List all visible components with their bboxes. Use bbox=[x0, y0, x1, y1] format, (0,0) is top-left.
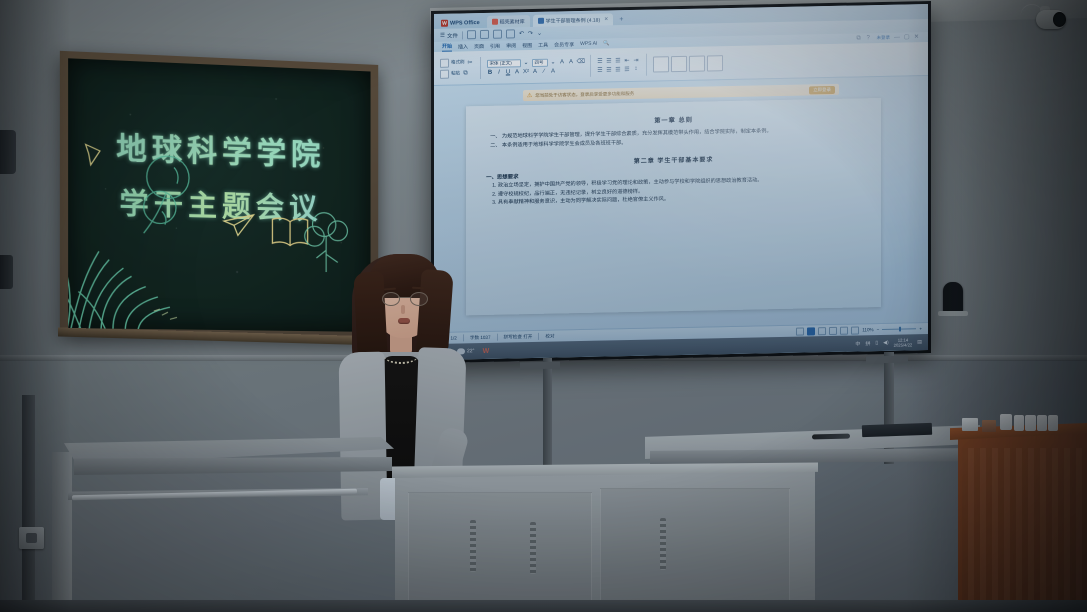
screen-support-leg-left bbox=[543, 358, 552, 468]
multilevel-list-icon[interactable]: ☰ bbox=[615, 57, 622, 64]
find-replace-icon[interactable] bbox=[707, 55, 723, 71]
tab-page[interactable]: 页面 bbox=[474, 42, 484, 49]
font-color-icon[interactable]: A bbox=[550, 68, 557, 74]
volume-icon[interactable]: ◀) bbox=[883, 340, 889, 346]
search-icon[interactable]: 🔍 bbox=[603, 40, 609, 46]
print-icon[interactable] bbox=[493, 30, 502, 39]
cut-icon[interactable]: ✂ bbox=[467, 59, 474, 66]
account-login-label[interactable]: 未登录 bbox=[877, 35, 891, 41]
focus-view-icon[interactable] bbox=[840, 326, 848, 334]
ribbon-divider-3 bbox=[646, 53, 647, 75]
align-right-icon[interactable]: ☰ bbox=[615, 66, 622, 73]
chalk-paper-plane-drawing bbox=[222, 211, 256, 238]
help-icon[interactable]: ? bbox=[867, 35, 873, 41]
font-group: 宋体 (正文) ⌄ 四号 ⌄ A A ⌫ B I U A bbox=[487, 57, 584, 75]
projection-screen-surface[interactable]: W WPS Office 稻壳素材库 学生干部管理条例 (4.18) ✕ + bbox=[434, 4, 928, 360]
tab-close-icon[interactable]: ✕ bbox=[604, 16, 608, 22]
cabinet-vent-right bbox=[660, 518, 666, 570]
mouth bbox=[398, 318, 410, 324]
left-shadow-overlay bbox=[0, 0, 70, 612]
file-menu-label: 文件 bbox=[447, 31, 458, 39]
cloud-sync-icon[interactable] bbox=[506, 29, 515, 38]
print-preview-icon[interactable] bbox=[480, 30, 489, 39]
glasses-lens-right bbox=[410, 292, 428, 306]
tab-reference[interactable]: 引用 bbox=[490, 42, 500, 49]
cabinet-vent-left bbox=[470, 520, 476, 572]
increase-indent-icon[interactable]: ⇥ bbox=[633, 56, 640, 63]
chevron-down-icon[interactable]: ⌄ bbox=[523, 59, 530, 66]
justify-icon[interactable]: ☰ bbox=[624, 66, 631, 73]
format-painter-label: 格式刷 bbox=[451, 59, 465, 65]
toolbar-divider bbox=[462, 31, 463, 39]
grow-font-icon[interactable]: A bbox=[559, 59, 566, 65]
word-count-label: 字数 1037 bbox=[470, 334, 491, 340]
word-doc-icon bbox=[538, 18, 544, 24]
network-icon[interactable]: ▯ bbox=[875, 340, 878, 346]
reading-view-icon[interactable] bbox=[829, 326, 837, 334]
paste-icon[interactable] bbox=[440, 69, 449, 78]
styles-group bbox=[653, 55, 723, 72]
wps-taskbar-icon[interactable]: W bbox=[483, 347, 490, 354]
bullet-list-icon[interactable]: ☰ bbox=[597, 57, 604, 64]
glasses-lens-left bbox=[382, 292, 400, 306]
fullscreen-icon[interactable] bbox=[851, 326, 859, 334]
font-size-select[interactable]: 四号 bbox=[532, 58, 548, 66]
spellcheck-label[interactable]: 拼写检查 打开 bbox=[504, 333, 533, 340]
blackboard-surface: 地球科学学院 学干主题会议 bbox=[68, 58, 370, 332]
necklace bbox=[384, 348, 418, 364]
tab-dock-material[interactable]: 稻壳素材库 bbox=[487, 15, 530, 28]
cabinet-door-right[interactable] bbox=[600, 488, 790, 608]
style-normal-icon[interactable] bbox=[653, 56, 669, 72]
wps-office-window: W WPS Office 稻壳素材库 学生干部管理条例 (4.18) ✕ + bbox=[434, 4, 928, 360]
minimize-icon[interactable]: — bbox=[894, 35, 900, 41]
file-menu-button[interactable]: ☰ 文件 bbox=[440, 31, 458, 39]
login-now-button[interactable]: 立即登录 bbox=[809, 85, 835, 94]
line-spacing-icon[interactable]: ↕ bbox=[633, 66, 640, 72]
weather-temperature: 22° bbox=[467, 348, 475, 354]
tab-view[interactable]: 视图 bbox=[522, 41, 532, 48]
status-divider-3 bbox=[538, 333, 539, 340]
glasses-bridge bbox=[398, 297, 410, 298]
status-divider-2 bbox=[497, 334, 498, 341]
chalk-paper-plane-small-drawing bbox=[83, 142, 106, 167]
decrease-indent-icon[interactable]: ⇤ bbox=[624, 57, 631, 64]
strikethrough-icon[interactable]: A bbox=[514, 69, 521, 75]
italic-button[interactable]: I bbox=[496, 69, 503, 75]
tab-insert[interactable]: 插入 bbox=[458, 43, 468, 50]
wps-app-name: WPS Office bbox=[450, 20, 480, 27]
undo-icon[interactable]: ↶ bbox=[519, 30, 524, 37]
tab-tools[interactable]: 工具 bbox=[538, 41, 548, 48]
blackboard: 地球科学学院 学干主题会议 bbox=[60, 51, 378, 340]
nose bbox=[401, 305, 405, 314]
proofread-label[interactable]: 校对 bbox=[545, 333, 554, 339]
align-left-icon[interactable]: ☰ bbox=[597, 66, 604, 73]
paragraph-group: ☰ ☰ ☰ ⇤ ⇥ ☰ ☰ ☰ ☰ ↕ bbox=[597, 56, 640, 73]
glasses-icon bbox=[382, 292, 428, 304]
font-family-select[interactable]: 宋体 (正文) bbox=[487, 59, 521, 68]
screen-mount-bar-left bbox=[520, 362, 560, 370]
tab-review[interactable]: 审阅 bbox=[506, 42, 516, 49]
style-heading2-icon[interactable] bbox=[689, 55, 705, 71]
classroom-scene: 地球科学学院 学干主题会议 bbox=[0, 0, 1087, 612]
bold-button[interactable]: B bbox=[487, 69, 494, 75]
web-view-icon[interactable] bbox=[796, 327, 804, 335]
wps-logo-icon: W bbox=[441, 20, 448, 27]
hamburger-icon: ☰ bbox=[440, 32, 445, 38]
align-center-icon[interactable]: ☰ bbox=[606, 66, 613, 73]
clear-format-icon[interactable]: ⌫ bbox=[577, 58, 584, 65]
pen-on-desk[interactable] bbox=[812, 434, 850, 440]
projection-screen: W WPS Office 稻壳素材库 学生干部管理条例 (4.18) ✕ + bbox=[431, 1, 931, 363]
right-shadow-overlay bbox=[907, 0, 1087, 612]
tab-home[interactable]: 开始 bbox=[442, 42, 452, 51]
page-view-icon[interactable] bbox=[807, 327, 815, 335]
cabinet-door-left[interactable] bbox=[408, 492, 592, 610]
copy-icon[interactable]: ⧉ bbox=[462, 70, 469, 77]
superscript-icon[interactable]: X² bbox=[523, 69, 530, 75]
underline-button[interactable]: U bbox=[505, 69, 512, 75]
redo-icon[interactable]: ↷ bbox=[528, 30, 533, 37]
style-heading1-icon[interactable] bbox=[671, 55, 687, 71]
outline-view-icon[interactable] bbox=[818, 327, 826, 335]
text-effects-icon[interactable]: A bbox=[532, 68, 539, 74]
tab-member[interactable]: 会员专享 bbox=[554, 41, 574, 48]
ime-mode-icon[interactable]: 中 bbox=[855, 340, 860, 347]
tab-wps-ai[interactable]: WPS AI bbox=[580, 41, 597, 47]
zoom-out-button[interactable]: − bbox=[877, 327, 880, 332]
zoom-level-label: 110% bbox=[862, 327, 873, 332]
chevron-down-icon[interactable]: ⌄ bbox=[537, 30, 542, 37]
new-tab-button[interactable]: + bbox=[616, 16, 626, 25]
ribbon-divider-1 bbox=[480, 57, 481, 79]
highlight-icon[interactable]: ⁄ bbox=[541, 68, 548, 74]
zoom-slider-handle[interactable] bbox=[899, 327, 901, 332]
format-painter-icon[interactable] bbox=[440, 58, 449, 67]
dock-material-icon bbox=[492, 19, 498, 25]
notice-text: 您当前处于访客状态，登录后享受更多功能和服务 bbox=[535, 90, 634, 98]
screen-mount-bar-right bbox=[866, 356, 908, 364]
share-icon[interactable]: ⧉ bbox=[857, 35, 863, 41]
ribbon-divider-2 bbox=[590, 54, 591, 76]
document-area[interactable]: ⚠ 您当前处于访客状态，登录后享受更多功能和服务 立即登录 第一章 总则 一、 … bbox=[434, 76, 928, 332]
numbered-list-icon[interactable]: ☰ bbox=[606, 57, 613, 64]
chevron-down-icon[interactable]: ⌄ bbox=[550, 58, 557, 65]
document-heading-1: 第一章 总则 bbox=[480, 111, 867, 128]
guest-login-notice: ⚠ 您当前处于访客状态，登录后享受更多功能和服务 立即登录 bbox=[523, 84, 839, 101]
ime-pinyin-icon[interactable]: 拼 bbox=[865, 340, 870, 347]
tab-document-label: 学生干部管理条例 (4.18) bbox=[546, 16, 600, 24]
chalk-balloon-drawing bbox=[130, 154, 211, 245]
document-page[interactable]: 第一章 总则 一、 为规范地球科学学院学生干部管理，提升学生干部综合素质，充分发… bbox=[466, 98, 881, 315]
clipboard-group: 格式刷 ✂ 粘贴 ⧉ bbox=[440, 58, 474, 79]
tab-dock-material-label: 稻壳素材库 bbox=[500, 18, 525, 26]
warning-icon: ⚠ bbox=[527, 92, 532, 99]
save-icon[interactable] bbox=[467, 30, 476, 39]
shrink-font-icon[interactable]: A bbox=[568, 59, 575, 65]
paste-label: 粘贴 bbox=[451, 70, 460, 76]
cabinet-vent-mid bbox=[530, 522, 536, 574]
